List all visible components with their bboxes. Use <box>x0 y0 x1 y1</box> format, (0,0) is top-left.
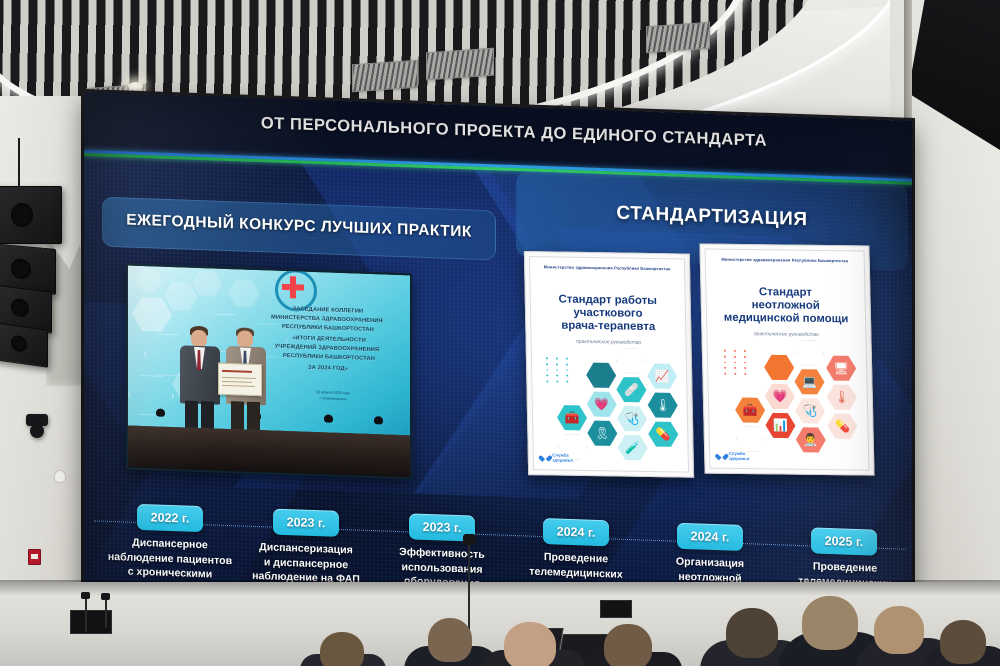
presentation-chart-icon: 📊 <box>765 412 796 438</box>
service-health-logo: Служба здоровья <box>718 451 749 461</box>
booklet-cover-emergency-standard: Министерство здравоохранения Республики … <box>699 243 874 475</box>
attendee-head <box>726 608 778 658</box>
line-array-speaker <box>0 186 62 244</box>
desk-microphone-head <box>463 534 476 545</box>
ceiling-downlight <box>128 82 143 90</box>
ecg-monitor-icon: 📈 <box>647 363 677 389</box>
hvac-vent <box>426 48 494 81</box>
attendee-head <box>940 620 986 664</box>
first-aid-kit-icon: 🧰 <box>735 397 766 423</box>
outline-hex <box>794 340 825 366</box>
desk-microphone-stem <box>468 540 470 632</box>
booklet-dot-grid <box>546 357 571 382</box>
timeline-item-6: 2025 г. Проведение телемедицинских консу… <box>780 526 908 556</box>
stethoscope-icon: 🩺 <box>795 398 826 424</box>
speaker-rigging <box>18 138 20 190</box>
timeline-year-badge: 2024 г. <box>543 518 609 546</box>
heart-icon <box>718 452 726 460</box>
desk-cable-slot <box>600 600 632 618</box>
bandage-icon: 🩹 <box>616 376 646 402</box>
heart-icon <box>542 453 550 461</box>
booklet-title-line: медицинской помощи <box>713 312 859 327</box>
thermometer-icon: 🌡 <box>648 392 678 418</box>
hvac-vent <box>646 22 710 53</box>
photo-red-cross-icon <box>280 274 306 301</box>
booklet-cover-therapist-standard: Министерство здравоохранения Республики … <box>524 251 694 478</box>
stethoscope-icon: 🩺 <box>617 405 647 431</box>
timeline-year: 2025 г. <box>825 534 864 549</box>
logo-line: здоровья <box>729 456 750 461</box>
timeline-year: 2023 г. <box>423 520 462 535</box>
timeline-year-badge: 2025 г. <box>811 527 877 555</box>
heart-pulse-icon: 💗 <box>765 383 796 409</box>
screen-drop-shadow <box>0 580 1000 596</box>
telemedicine-screen-icon: 💻 <box>794 369 825 395</box>
capsule-pills-icon: 💊 <box>648 421 678 447</box>
timeline-year-badge: 2024 г. <box>677 523 743 551</box>
hvac-vent <box>352 60 418 93</box>
outline-hex <box>736 426 767 452</box>
test-tube-icon: 🧪 <box>617 434 647 460</box>
capsule-pills-icon: 💊 <box>827 413 858 439</box>
attendee-head <box>428 618 472 662</box>
wall-camera-mount <box>30 424 44 438</box>
booklet-dot-grid <box>724 350 750 375</box>
timeline-item-5: 2024 г. Организация неотложной медицинск… <box>646 522 774 552</box>
section-label-standardization: СТАНДАРТИЗАЦИЯ <box>516 199 908 235</box>
led-video-wall: ОТ ПЕРСОНАЛЬНОГО ПРОЕКТА ДО ЕДИНОГО СТАН… <box>84 92 912 657</box>
timeline-item-3: 2023 г. Эффективность использования обор… <box>378 512 506 542</box>
timeline-year-badge: 2022 г. <box>137 504 203 532</box>
booklet-ministry-line: Министерство здравоохранения Республики … <box>706 257 864 264</box>
timeline-year: 2022 г. <box>151 510 190 525</box>
line-array-speaker <box>0 322 48 368</box>
timeline-year: 2024 г. <box>557 525 596 540</box>
photo-certificate <box>218 363 262 397</box>
attendee-head <box>504 622 556 666</box>
conference-hall-photo: ОТ ПЕРСОНАЛЬНОГО ПРОЕКТА ДО ЕДИНОГО СТАН… <box>0 0 1000 666</box>
attendee-head <box>802 596 858 650</box>
thermometer-icon: 🌡 <box>827 384 858 410</box>
ecg-monitor-icon: 🖥 <box>826 355 857 381</box>
desk-microphone-stem <box>105 598 107 628</box>
desk-microphone-stem <box>85 598 87 632</box>
section-label-best-practices: ЕЖЕГОДНЫЙ КОНКУРС ЛУЧШИХ ПРАКТИК <box>103 211 495 243</box>
attendee-head <box>604 624 652 666</box>
doctor-icon: 👨‍⚕️ <box>796 427 827 453</box>
timeline-item-1: 2022 г. Диспансерное наблюдение пациенто… <box>106 503 234 533</box>
first-aid-kit-icon: 🧰 <box>557 405 587 431</box>
booklet-subtitle: практическое руководство <box>707 331 865 339</box>
timeline-year-badge: 2023 г. <box>273 509 339 537</box>
timeline-item-2: 2023 г. Диспансеризация и диспансерное н… <box>242 508 370 538</box>
desk-microphone-head <box>101 593 110 600</box>
blank-hex <box>586 362 616 388</box>
timeline-year: 2024 г. <box>691 529 730 544</box>
timeline-item-4: 2024 г. Проведение телемедицинских консу… <box>512 517 640 547</box>
heart-pulse-icon: 💗 <box>587 391 617 417</box>
attendee-head <box>874 606 924 654</box>
ribbon-icon: 🎗 <box>587 420 617 446</box>
service-health-logo: Служба здоровья <box>542 452 573 462</box>
desk-microphone-head <box>81 592 90 599</box>
fire-alarm-call-point <box>28 549 41 565</box>
outline-hex <box>616 347 646 373</box>
ceiling-sensor <box>54 470 66 483</box>
booklet-subtitle: практическое руководство <box>532 338 686 346</box>
logo-line: здоровья <box>552 457 573 462</box>
attendee-head <box>320 632 364 666</box>
booklet-ministry-line: Министерство здравоохранения Республики … <box>530 264 684 271</box>
booklet-title-line: врача-терапевта <box>537 319 679 334</box>
blank-hex <box>764 354 795 380</box>
timeline-year: 2023 г. <box>287 515 326 530</box>
award-ceremony-photo: ЗАСЕДАНИЕ КОЛЛЕГИИ МИНИСТЕРСТВА ЗДРАВООХ… <box>126 263 412 479</box>
